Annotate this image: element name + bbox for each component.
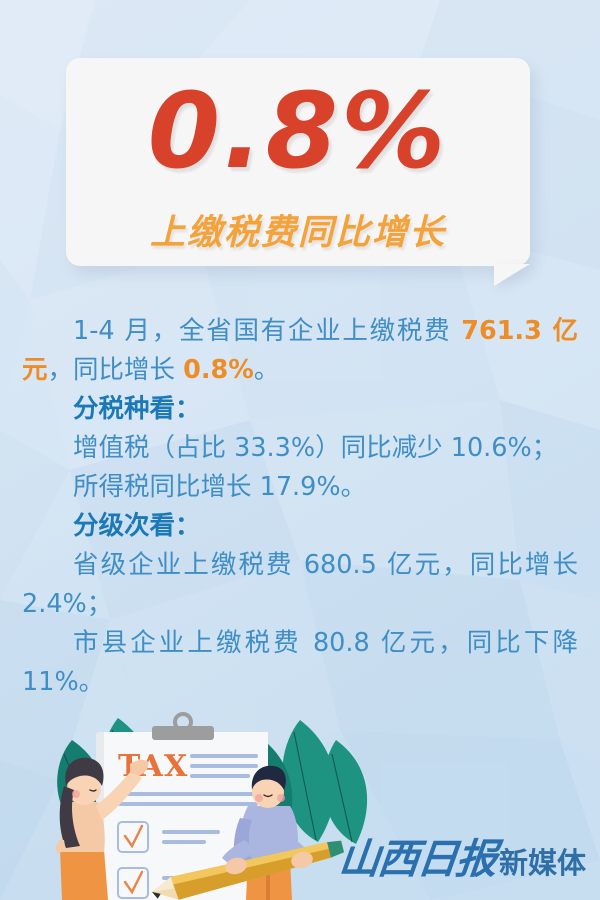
checkbox-2 [118,868,148,898]
body-text: 。 [254,355,280,385]
headline-subtitle: 上缴税费同比增长 [66,204,530,255]
body-text: 市县企业上缴税费 80.8 亿元，同比下降 11%。 [22,628,578,697]
checkbox-1 [118,822,148,852]
body-text: 增值税（占比 33.3%）同比减少 10.6%； [73,433,557,463]
headline-card-tail [494,264,530,286]
highlight-value: 0.8% [183,355,254,385]
publisher-logo: 山西日报 新媒体 [339,839,586,880]
body-paragraph: 省级企业上缴税费 680.5 亿元，同比增长 2.4%； [22,546,578,624]
body-copy: 1-4 月，全省国有企业上缴税费 761.3 亿元，同比增长 0.8%。分税种看… [22,312,578,702]
body-paragraph: 所得税同比增长 17.9%。 [22,468,578,507]
headline-card: 0.8% 上缴税费同比增长 [66,58,530,266]
headline-number: 0.8% [66,70,530,193]
body-text: 省级企业上缴税费 680.5 亿元，同比增长 2.4%； [22,550,578,619]
body-paragraph: 市县企业上缴税费 80.8 亿元，同比下降 11%。 [22,624,578,702]
body-paragraph: 增值税（占比 33.3%）同比减少 10.6%； [22,429,578,468]
logo-sub-text: 新媒体 [499,849,586,880]
body-subheading: 分税种看： [22,390,578,429]
body-text: 1-4 月，全省国有企业上缴税费 [73,316,461,346]
body-text: ，同比增长 [48,355,184,385]
body-paragraph: 1-4 月，全省国有企业上缴税费 761.3 亿元，同比增长 0.8%。 [22,312,578,390]
logo-mark-text: 山西日报 [337,839,497,880]
body-subheading: 分级次看： [22,507,578,546]
infographic-poster: 0.8% 上缴税费同比增长 1-4 月，全省国有企业上缴税费 761.3 亿元，… [0,0,600,900]
body-text: 所得税同比增长 17.9%。 [73,472,366,502]
